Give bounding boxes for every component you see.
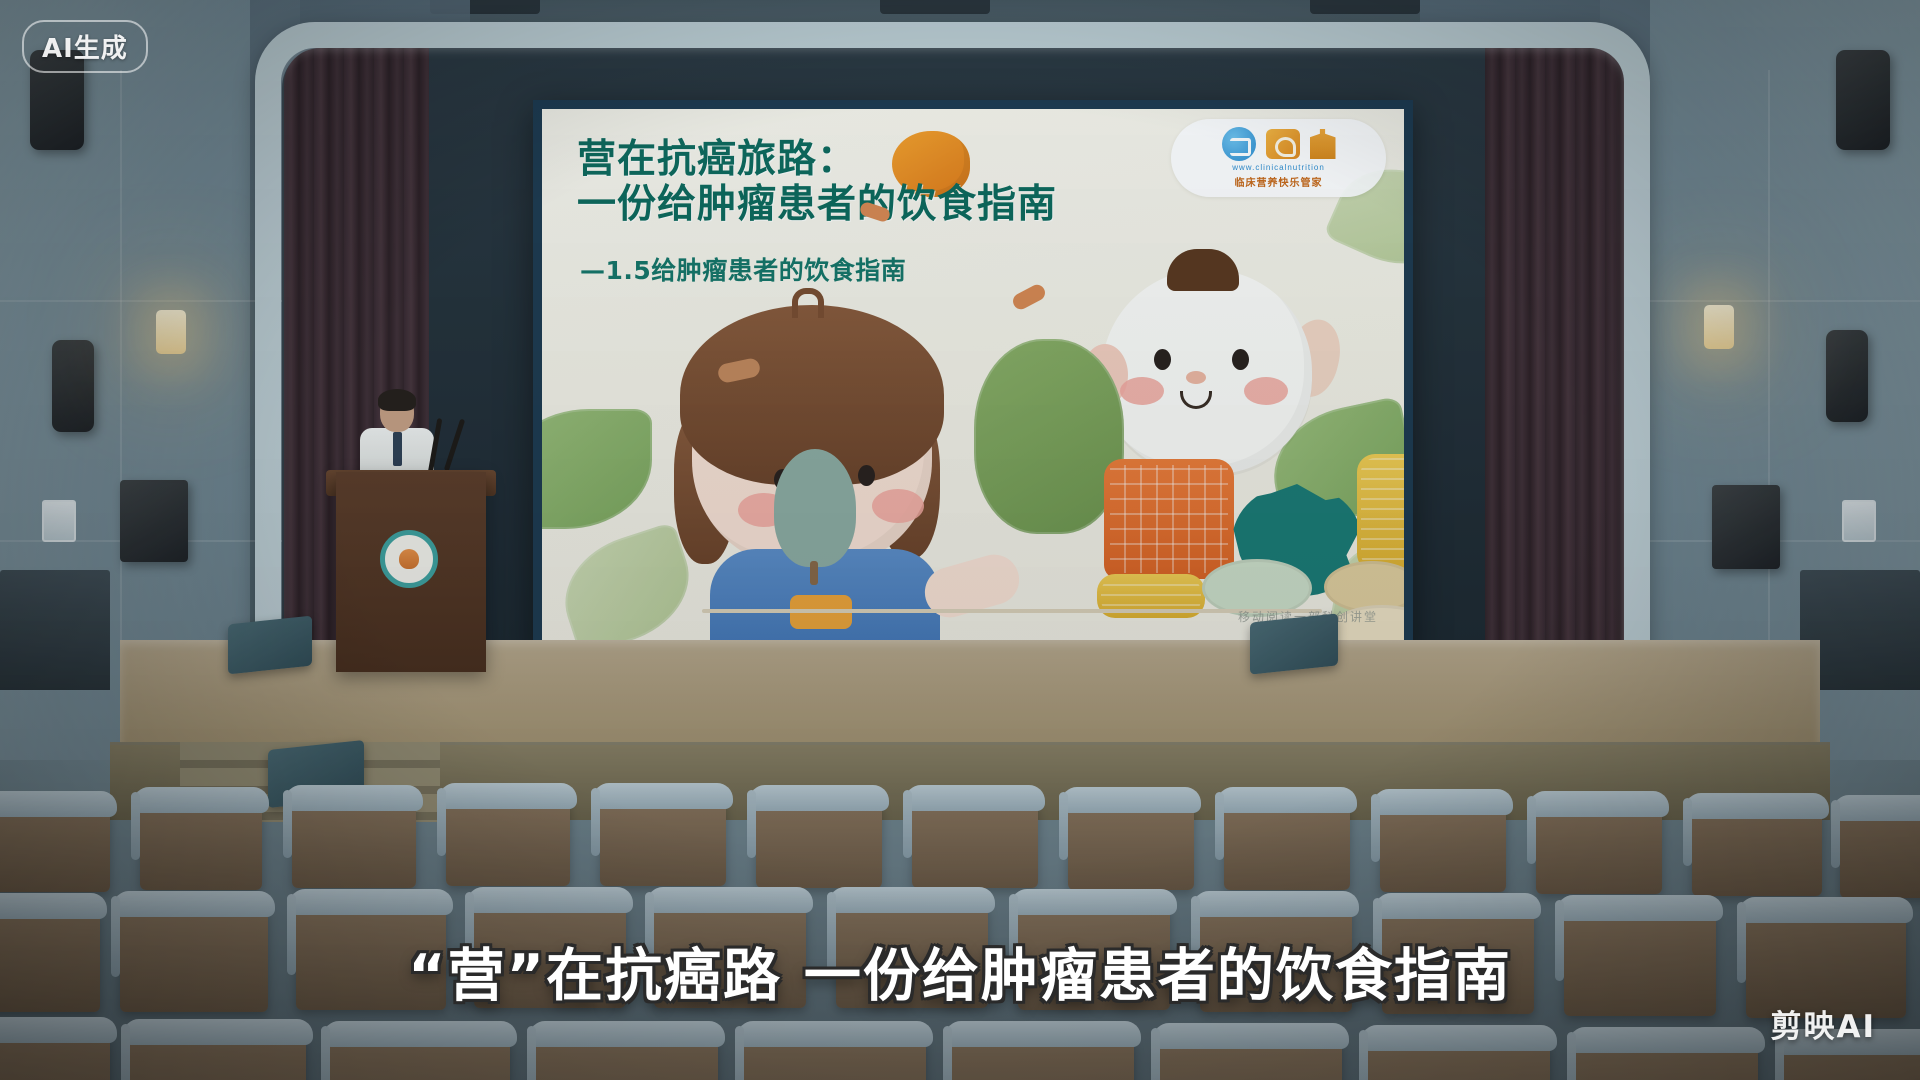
projection-screen[interactable]: 营在抗癌旅路： 一份给肿瘤患者的饮食指南 —1.5给肿瘤患者的饮食指南 www.… (533, 100, 1413, 660)
presenter (360, 392, 434, 482)
wall-speaker-icon (1712, 485, 1780, 569)
mascot-eye (1154, 349, 1171, 370)
seat (600, 792, 726, 886)
mascot-cheek (1244, 377, 1288, 405)
slide-title: 营在抗癌旅路： 一份给肿瘤患者的饮食指南 (577, 137, 1137, 227)
logo-row (1222, 127, 1336, 161)
presenter-hair (378, 389, 416, 411)
wall-speaker-icon (1836, 50, 1890, 150)
mascot-nori-cap (1167, 249, 1239, 291)
table-surface-line (702, 609, 1322, 613)
seat (1536, 800, 1662, 894)
logo-url-caption: www.clinicalnutrition (1232, 163, 1325, 172)
logo-org-label: 临床营养快乐管家 (1235, 174, 1323, 189)
leaf-decoration (533, 409, 652, 529)
seat (1576, 1036, 1758, 1080)
wall-speaker-icon (120, 480, 188, 562)
seat (912, 794, 1038, 888)
seat (536, 1030, 718, 1080)
mascot-cheek (1120, 377, 1164, 405)
wall-sconce-light (156, 310, 186, 354)
tree-trunk-decoration (810, 561, 818, 585)
seat (292, 794, 416, 888)
corn-food (1357, 454, 1413, 572)
floor-monitor-speaker (228, 616, 312, 675)
wall-speaker-icon (52, 340, 94, 432)
wall-light-panel (42, 500, 76, 542)
seat (446, 792, 570, 886)
slide-title-line1: 营在抗癌旅路： (577, 137, 1137, 182)
seat (1380, 798, 1506, 892)
subtitle-caption: “营”在抗癌路 一份给肿瘤患者的饮食指南 (0, 930, 1920, 1012)
wechat-style-logo-icon (1222, 127, 1256, 161)
mascot-nose (1186, 371, 1206, 384)
app-watermark: 剪映AI (1770, 1001, 1876, 1046)
ai-generated-badge: AI生成 (22, 20, 148, 73)
presentation-slide: 营在抗癌旅路： 一份给肿瘤患者的饮食指南 —1.5给肿瘤患者的饮食指南 www.… (542, 109, 1404, 651)
ceiling-light-slot (880, 0, 990, 14)
girl-eye (858, 465, 875, 486)
seat (756, 794, 882, 888)
wall-speaker-icon (1826, 330, 1868, 422)
girl-cheek (872, 489, 924, 523)
seat (1368, 1034, 1550, 1080)
seat (1160, 1032, 1342, 1080)
slide-title-line2: 一份给肿瘤患者的饮食指南 (577, 182, 1137, 227)
seat (1224, 796, 1350, 890)
seat (952, 1030, 1134, 1080)
seat (1068, 796, 1194, 890)
side-door (0, 570, 110, 690)
tower-logo-icon (1310, 129, 1336, 159)
floor-monitor-speaker (1250, 613, 1338, 674)
wall-sconce-light (1704, 305, 1734, 349)
organization-logo-badge: www.clinicalnutrition 临床营养快乐管家 (1171, 119, 1386, 197)
seat (0, 1026, 110, 1080)
tree-decoration (774, 449, 856, 567)
seat (0, 800, 110, 892)
seat (140, 796, 262, 890)
seat (744, 1030, 926, 1080)
orange-shield-logo-icon (1266, 129, 1300, 159)
video-frame: 营在抗癌旅路： 一份给肿瘤患者的饮食指南 —1.5给肿瘤患者的饮食指南 www.… (0, 0, 1920, 1080)
mascot-eye (1232, 349, 1249, 370)
podium-emblem-icon (380, 530, 438, 588)
seat (1692, 802, 1822, 896)
seat (1840, 804, 1920, 898)
slide-subtitle: —1.5给肿瘤患者的饮食指南 (580, 251, 906, 287)
ceiling-light-slot (1310, 0, 1420, 14)
mascot-face (1102, 269, 1312, 474)
presenter-tie (393, 432, 402, 466)
cabbage-vegetable (974, 339, 1124, 534)
carrot-basket-food (1104, 459, 1234, 579)
wall-light-panel (1842, 500, 1876, 542)
seat (130, 1028, 306, 1080)
seat (330, 1030, 510, 1080)
nut-decoration (1010, 282, 1048, 312)
